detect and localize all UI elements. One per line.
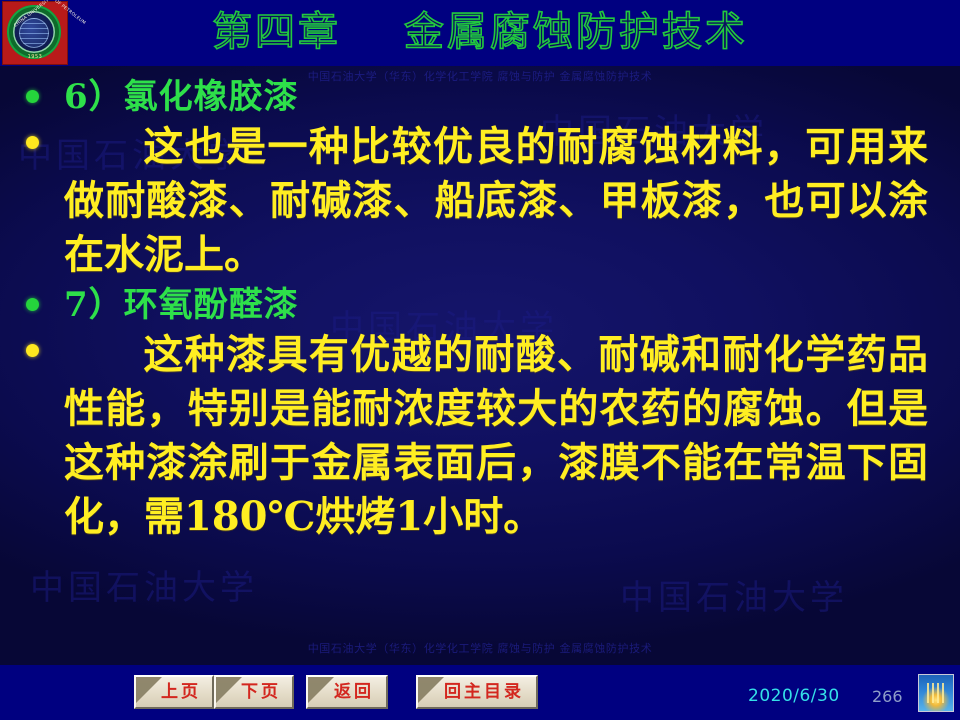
bullet-yellow-icon [26, 344, 39, 357]
slide-content: 6）氯化橡胶漆 这也是一种比较优良的耐腐蚀材料，可用来做耐酸漆、耐碱漆、船底漆、… [0, 74, 960, 634]
slide-header-band: 第四章 金属腐蚀防护技术 [0, 0, 960, 66]
main-menu-button[interactable]: 回主目录 [416, 675, 538, 709]
back-button[interactable]: 返回 [306, 675, 388, 709]
bullet-cell [0, 74, 64, 103]
logo-year-text: 1953 [3, 54, 67, 60]
bullet-cell [0, 282, 64, 311]
body-text-1: 这也是一种比较优良的耐腐蚀材料，可用来做耐酸漆、耐碱漆、船底漆、甲板漆，也可以涂… [64, 120, 928, 282]
slide-thumbnail-icon[interactable] [918, 674, 954, 712]
bullet-cell [0, 120, 64, 149]
next-page-label: 下页 [216, 677, 292, 707]
text-cell: 6）氯化橡胶漆 [64, 74, 960, 120]
university-logo: CHINA UNIVERSITY OF PETROLEUM 1953 [2, 1, 68, 65]
text-cell: 这种漆具有优越的耐酸、耐碱和耐化学药品性能，特别是能耐浓度较大的农药的腐蚀。但是… [64, 328, 960, 544]
watermark-band-bottom: 中国石油大学（华东）化学化工学院 腐蚀与防护 金属腐蚀防护技术 [0, 640, 960, 656]
main-menu-label: 回主目录 [418, 677, 536, 707]
bullet-yellow-icon [26, 136, 39, 149]
logo-arc-left-text: CHINA UNIVERSITY [13, 0, 52, 29]
prev-page-label: 上页 [136, 677, 212, 707]
bullet-cell [0, 328, 64, 357]
bullet-line-body-2: 这种漆具有优越的耐酸、耐碱和耐化学药品性能，特别是能耐浓度较大的农药的腐蚀。但是… [0, 328, 960, 544]
slide-title: 第四章 金属腐蚀防护技术 [0, 5, 960, 59]
bullet-green-icon [26, 90, 39, 103]
bullet-line-heading-2: 7）环氧酚醛漆 [0, 282, 960, 328]
presentation-slide: 中国石油大学 中国石油大学 中国石油大学 中国石油大学 中国石油大学 中国石油大… [0, 0, 960, 720]
bullet-line-heading-1: 6）氯化橡胶漆 [0, 74, 960, 120]
bullet-green-icon [26, 298, 39, 311]
bullet-line-body-1: 这也是一种比较优良的耐腐蚀材料，可用来做耐酸漆、耐碱漆、船底漆、甲板漆，也可以涂… [0, 120, 960, 282]
text-cell: 这也是一种比较优良的耐腐蚀材料，可用来做耐酸漆、耐碱漆、船底漆、甲板漆，也可以涂… [64, 120, 960, 282]
prev-page-button[interactable]: 上页 [134, 675, 214, 709]
next-page-button[interactable]: 下页 [214, 675, 294, 709]
back-label: 返回 [308, 677, 386, 707]
body-text-2: 这种漆具有优越的耐酸、耐碱和耐化学药品性能，特别是能耐浓度较大的农药的腐蚀。但是… [64, 328, 928, 544]
footer-page-number: 266 [872, 687, 903, 706]
text-cell: 7）环氧酚醛漆 [64, 282, 960, 328]
body-text-2-content: 这种漆具有优越的耐酸、耐碱和耐化学药品性能，特别是能耐浓度较大的农药的腐蚀。但是… [64, 331, 928, 540]
heading-text-1: 6）氯化橡胶漆 [64, 74, 928, 120]
body-text-1-content: 这也是一种比较优良的耐腐蚀材料，可用来做耐酸漆、耐碱漆、船底漆、甲板漆，也可以涂… [64, 123, 928, 278]
footer-date: 2020/6/30 [748, 686, 840, 706]
heading-text-2: 7）环氧酚醛漆 [64, 282, 928, 328]
